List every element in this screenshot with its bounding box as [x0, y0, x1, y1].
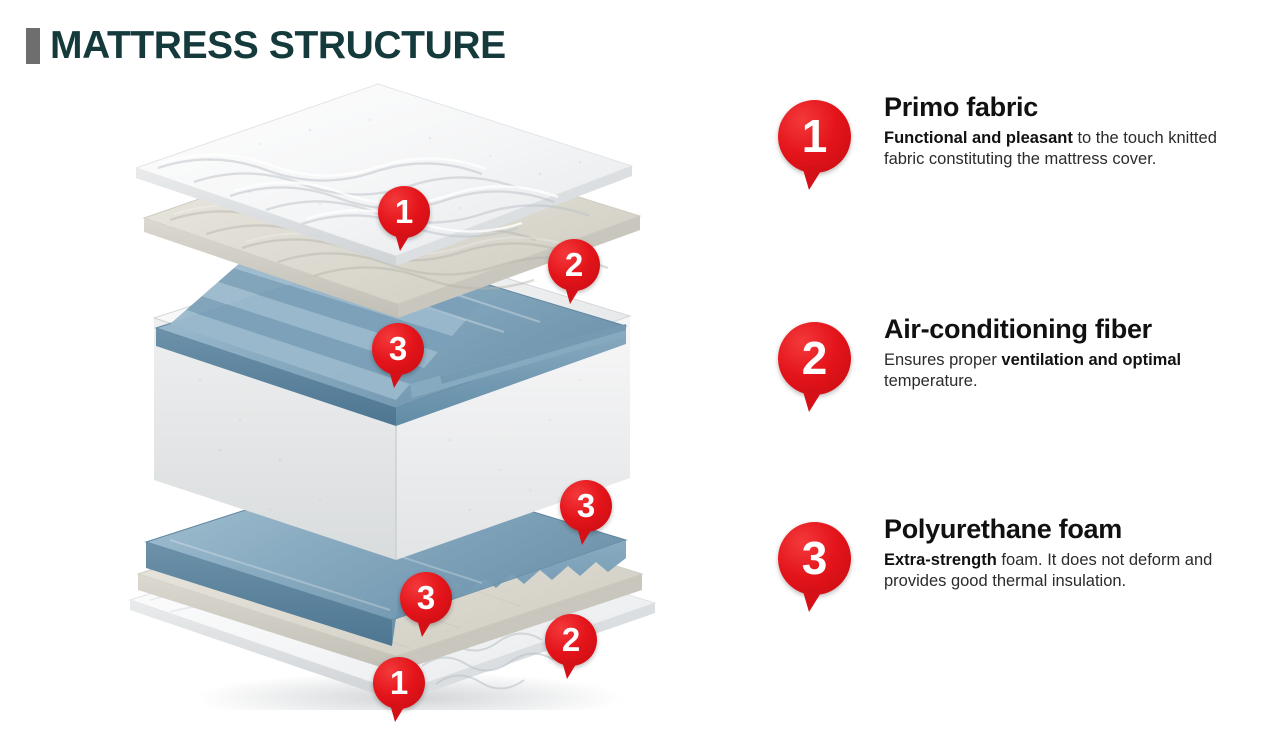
- title-accent-bar: [26, 28, 40, 64]
- mattress-exploded-diagram: 1 2 3 3 3 2 1: [110, 80, 670, 710]
- diagram-marker-3-top-wave-foam[interactable]: 3: [372, 323, 424, 375]
- diagram-marker-1-bottom-fabric[interactable]: 1: [373, 657, 425, 709]
- legend-pin-1[interactable]: 1: [778, 100, 851, 173]
- diagram-marker-3-core-foam[interactable]: 3: [560, 480, 612, 532]
- diagram-marker-1-top-fabric[interactable]: 1: [378, 186, 430, 238]
- page-title-text: MATTRESS STRUCTURE: [50, 26, 506, 65]
- legend-heading-1: Primo fabric: [884, 92, 1038, 123]
- legend-body-3: Extra-strength foam. It does not deform …: [884, 550, 1254, 592]
- legend-body-2: Ensures proper ventilation and optimal t…: [884, 350, 1254, 392]
- legend-heading-3: Polyurethane foam: [884, 514, 1122, 545]
- legend-body-3-bold: Extra-strength: [884, 551, 997, 569]
- diagram-marker-2-bottom-fiber[interactable]: 2: [545, 614, 597, 666]
- legend-body-2-pre: Ensures proper: [884, 351, 1001, 369]
- legend-pin-2[interactable]: 2: [778, 322, 851, 395]
- legend-body-1-bold: Functional and pleasant: [884, 129, 1073, 147]
- legend-body-2-rest: temperature.: [884, 372, 978, 390]
- page-title: MATTRESS STRUCTURE: [26, 26, 506, 65]
- legend-heading-2: Air-conditioning fiber: [884, 314, 1152, 345]
- legend-body-2-bold: ventilation and optimal: [1001, 351, 1181, 369]
- legend-pin-3[interactable]: 3: [778, 522, 851, 595]
- diagram-marker-2-top-fiber[interactable]: 2: [548, 239, 600, 291]
- diagram-marker-3-bottom-wave-foam[interactable]: 3: [400, 572, 452, 624]
- mattress-layers-svg: [110, 80, 670, 710]
- legend-body-1: Functional and pleasant to the touch kni…: [884, 128, 1254, 170]
